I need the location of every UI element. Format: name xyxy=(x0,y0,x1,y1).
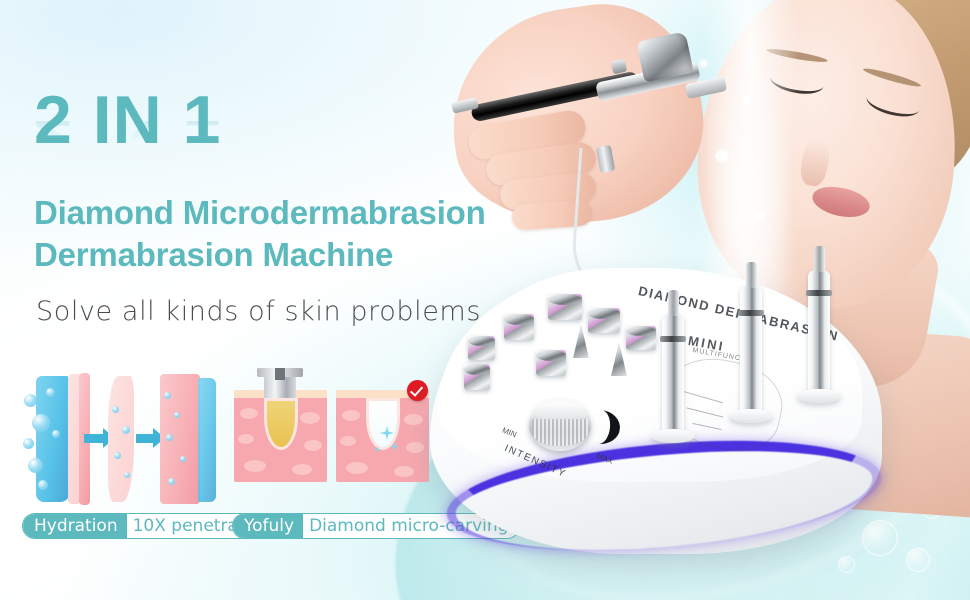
title-line-1: Diamond Microdermabrasion xyxy=(34,192,486,234)
pore-cleansing-diagram xyxy=(232,368,432,506)
pore-panel-before xyxy=(234,390,327,482)
skin-cell xyxy=(406,442,424,453)
pore-with-oil xyxy=(264,398,298,450)
pore-clean xyxy=(366,398,400,450)
splash-droplet xyxy=(716,150,728,162)
hydration-penetration-diagram xyxy=(22,368,218,506)
water-drop xyxy=(124,472,130,478)
wand-holder xyxy=(729,409,773,423)
wand-holder xyxy=(797,389,841,403)
splash-droplet xyxy=(742,96,751,105)
water-drop xyxy=(24,394,37,407)
water-drop xyxy=(114,452,121,459)
wand-holder xyxy=(651,429,695,443)
handpiece-wand[interactable] xyxy=(808,270,830,396)
bubble-decor xyxy=(906,548,930,572)
badge-hydration-key: Hydration xyxy=(23,514,127,538)
water-drop xyxy=(122,426,130,434)
skin-cell xyxy=(304,440,322,451)
wand-ring xyxy=(660,336,686,342)
wand-tip xyxy=(668,290,679,316)
diamond-tip[interactable] xyxy=(504,314,534,340)
diamond-tip-head xyxy=(626,326,656,336)
diamond-tip-head xyxy=(548,294,582,305)
skin-cell xyxy=(300,412,320,424)
water-drop xyxy=(180,456,186,462)
water-drop xyxy=(32,414,50,432)
skin-cell xyxy=(342,410,360,421)
splash-droplet xyxy=(700,60,707,67)
diamond-tip[interactable] xyxy=(548,294,582,320)
diamond-tip-head xyxy=(468,336,495,346)
diamond-tip[interactable] xyxy=(588,308,620,333)
brand-name: Yofuly xyxy=(233,514,303,538)
diamond-tip-head xyxy=(504,314,534,325)
skin-cell xyxy=(240,408,258,419)
product-banner: 2 IN 1 2 IN 1 Diamond Microdermabrasion … xyxy=(0,0,970,600)
skin-cell xyxy=(238,434,254,444)
water-drop xyxy=(52,430,60,438)
diamond-tip-head xyxy=(536,350,566,361)
water-drop xyxy=(174,412,180,418)
check-icon xyxy=(407,380,428,401)
wand-ring xyxy=(738,310,764,316)
water-drop xyxy=(112,406,119,413)
handpiece-wand[interactable] xyxy=(740,286,762,416)
skin-cell xyxy=(404,414,423,425)
splash-droplet xyxy=(756,212,764,220)
water-drop xyxy=(166,434,173,441)
water-drop xyxy=(164,392,171,399)
skin-cell xyxy=(292,464,312,475)
skin-cell xyxy=(340,436,356,446)
wand-tip xyxy=(746,262,757,288)
diamond-tip[interactable] xyxy=(464,364,490,390)
pore-panel-after xyxy=(336,390,429,482)
handpiece-wand[interactable] xyxy=(662,314,684,436)
water-drop xyxy=(23,438,34,449)
skin-panel-blue-c xyxy=(198,378,216,502)
diamond-tip[interactable] xyxy=(626,326,656,350)
skin-panel-barrier-b xyxy=(108,376,134,502)
diamond-tip[interactable] xyxy=(536,350,566,376)
flow-arrow xyxy=(136,434,154,443)
kicker-2-in-1: 2 IN 1 xyxy=(34,88,221,153)
dermabrasion-machine: DIAMOND DERMABRASION MINI MULTIFUNCTION … xyxy=(430,268,900,568)
diamond-tip-head xyxy=(588,308,620,319)
diamond-tip-head xyxy=(464,364,490,375)
page-title: Diamond Microdermabrasion Dermabrasion M… xyxy=(34,192,486,276)
diamond-tip[interactable] xyxy=(468,336,495,360)
skin-cell xyxy=(394,466,414,477)
wand-ring xyxy=(806,290,832,296)
skin-cell xyxy=(346,462,368,474)
wand-tip xyxy=(814,246,825,272)
water-drop xyxy=(168,478,175,485)
tagline: Solve all kinds of skin problems xyxy=(36,296,481,327)
water-drop xyxy=(28,458,43,473)
flow-arrow xyxy=(84,434,104,443)
skin-cell xyxy=(244,460,266,472)
water-drop xyxy=(46,388,55,397)
water-drop xyxy=(38,480,48,490)
title-line-2: Dermabrasion Machine xyxy=(34,234,486,276)
nozzle-tip xyxy=(275,368,285,380)
badge-hydration: Hydration 10X penetrate xyxy=(22,513,267,539)
